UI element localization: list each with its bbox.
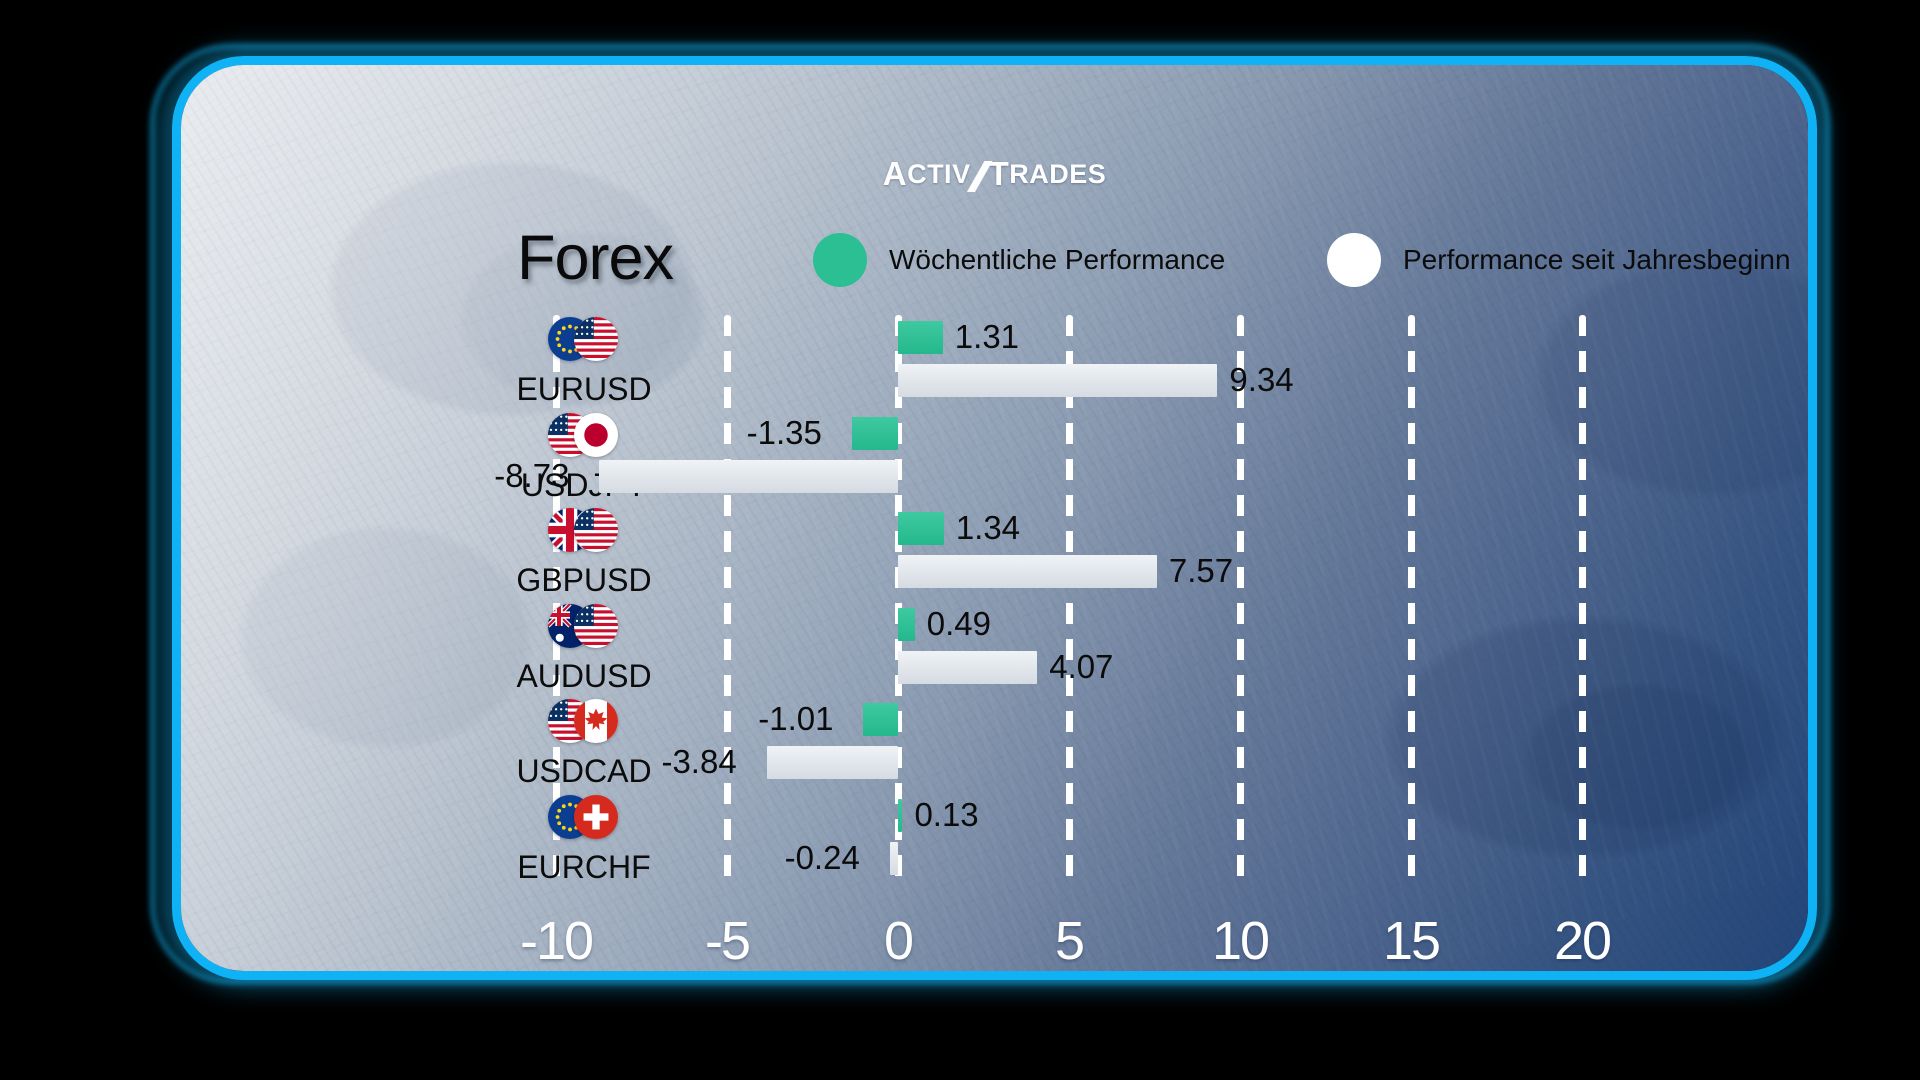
bar-audusd-ytd	[898, 651, 1037, 684]
value-label-eurchf-weekly: 0.13	[914, 798, 978, 831]
flag-ca-icon	[574, 699, 618, 743]
flag-pair-eurchf	[534, 795, 634, 851]
bar-eurchf-ytd	[890, 842, 898, 875]
value-label-audusd-ytd: 4.07	[1049, 650, 1113, 683]
x-tick-label-20: 20	[1554, 910, 1610, 972]
category-label-audusd: AUDUSD	[516, 658, 651, 695]
flag-jp-icon	[574, 413, 618, 457]
bar-usdjpy-ytd	[599, 460, 898, 493]
bar-eurusd-ytd	[898, 364, 1217, 397]
flag-pair-audusd	[534, 604, 634, 660]
category-label-eurchf: EURCHF	[517, 849, 650, 886]
bar-usdcad-ytd	[767, 746, 898, 779]
category-label-eurusd: EURUSD	[516, 371, 651, 408]
value-label-usdjpy-weekly: -1.35	[747, 416, 822, 449]
flag-us-icon	[574, 317, 618, 361]
value-label-usdcad-weekly: -1.01	[758, 702, 833, 735]
flag-pair-eurusd	[534, 317, 634, 373]
bar-gbpusd-weekly	[898, 512, 944, 545]
flag-us-icon	[574, 604, 618, 648]
value-label-usdcad-ytd: -3.84	[661, 745, 736, 778]
chart-row-audusd: AUDUSD0.494.07	[181, 606, 1808, 700]
chart-row-eurusd: EURUSD1.319.34	[181, 319, 1808, 413]
screenshot-root: ACTIVTRADES Forex Wöchentliche Performan…	[0, 0, 1920, 1080]
value-label-usdjpy-ytd: -8.73	[494, 459, 569, 492]
value-label-gbpusd-weekly: 1.34	[956, 511, 1020, 544]
bar-eurchf-weekly	[898, 799, 902, 832]
chart-row-gbpusd: GBPUSD1.347.57	[181, 510, 1808, 604]
bar-eurusd-weekly	[898, 321, 943, 354]
x-tick-label-10: 10	[1212, 910, 1268, 972]
bar-gbpusd-ytd	[898, 555, 1157, 588]
category-label-usdcad: USDCAD	[516, 753, 651, 790]
chart-card: ACTIVTRADES Forex Wöchentliche Performan…	[172, 56, 1817, 980]
x-tick-label-15: 15	[1383, 910, 1439, 972]
category-label-gbpusd: GBPUSD	[516, 562, 651, 599]
chart-row-usdcad: USDCAD-1.01-3.84	[181, 701, 1808, 795]
bar-usdcad-weekly	[863, 703, 898, 736]
chart-row-usdjpy: USDJPY-1.35-8.73	[181, 415, 1808, 509]
flag-us-icon	[574, 508, 618, 552]
value-label-gbpusd-ytd: 7.57	[1169, 554, 1233, 587]
flag-pair-usdcad	[534, 699, 634, 755]
value-label-eurusd-weekly: 1.31	[955, 320, 1019, 353]
bar-audusd-weekly	[898, 608, 915, 641]
x-tick-label-0: 0	[884, 910, 912, 972]
flag-ch-icon	[574, 795, 618, 839]
value-label-eurusd-ytd: 9.34	[1229, 363, 1293, 396]
x-tick-label-5: 5	[1055, 910, 1083, 972]
x-tick-label-neg10: -10	[520, 910, 592, 972]
value-label-eurchf-ytd: -0.24	[785, 841, 860, 874]
x-tick-label-neg5: -5	[705, 910, 749, 972]
flag-pair-gbpusd	[534, 508, 634, 564]
chart-plot-area: -10-505101520EURUSD1.319.34USDJPY-1.35-8…	[181, 65, 1808, 971]
chart-row-eurchf: EURCHF0.13-0.24	[181, 797, 1808, 891]
value-label-audusd-weekly: 0.49	[927, 607, 991, 640]
bar-usdjpy-weekly	[852, 417, 898, 450]
